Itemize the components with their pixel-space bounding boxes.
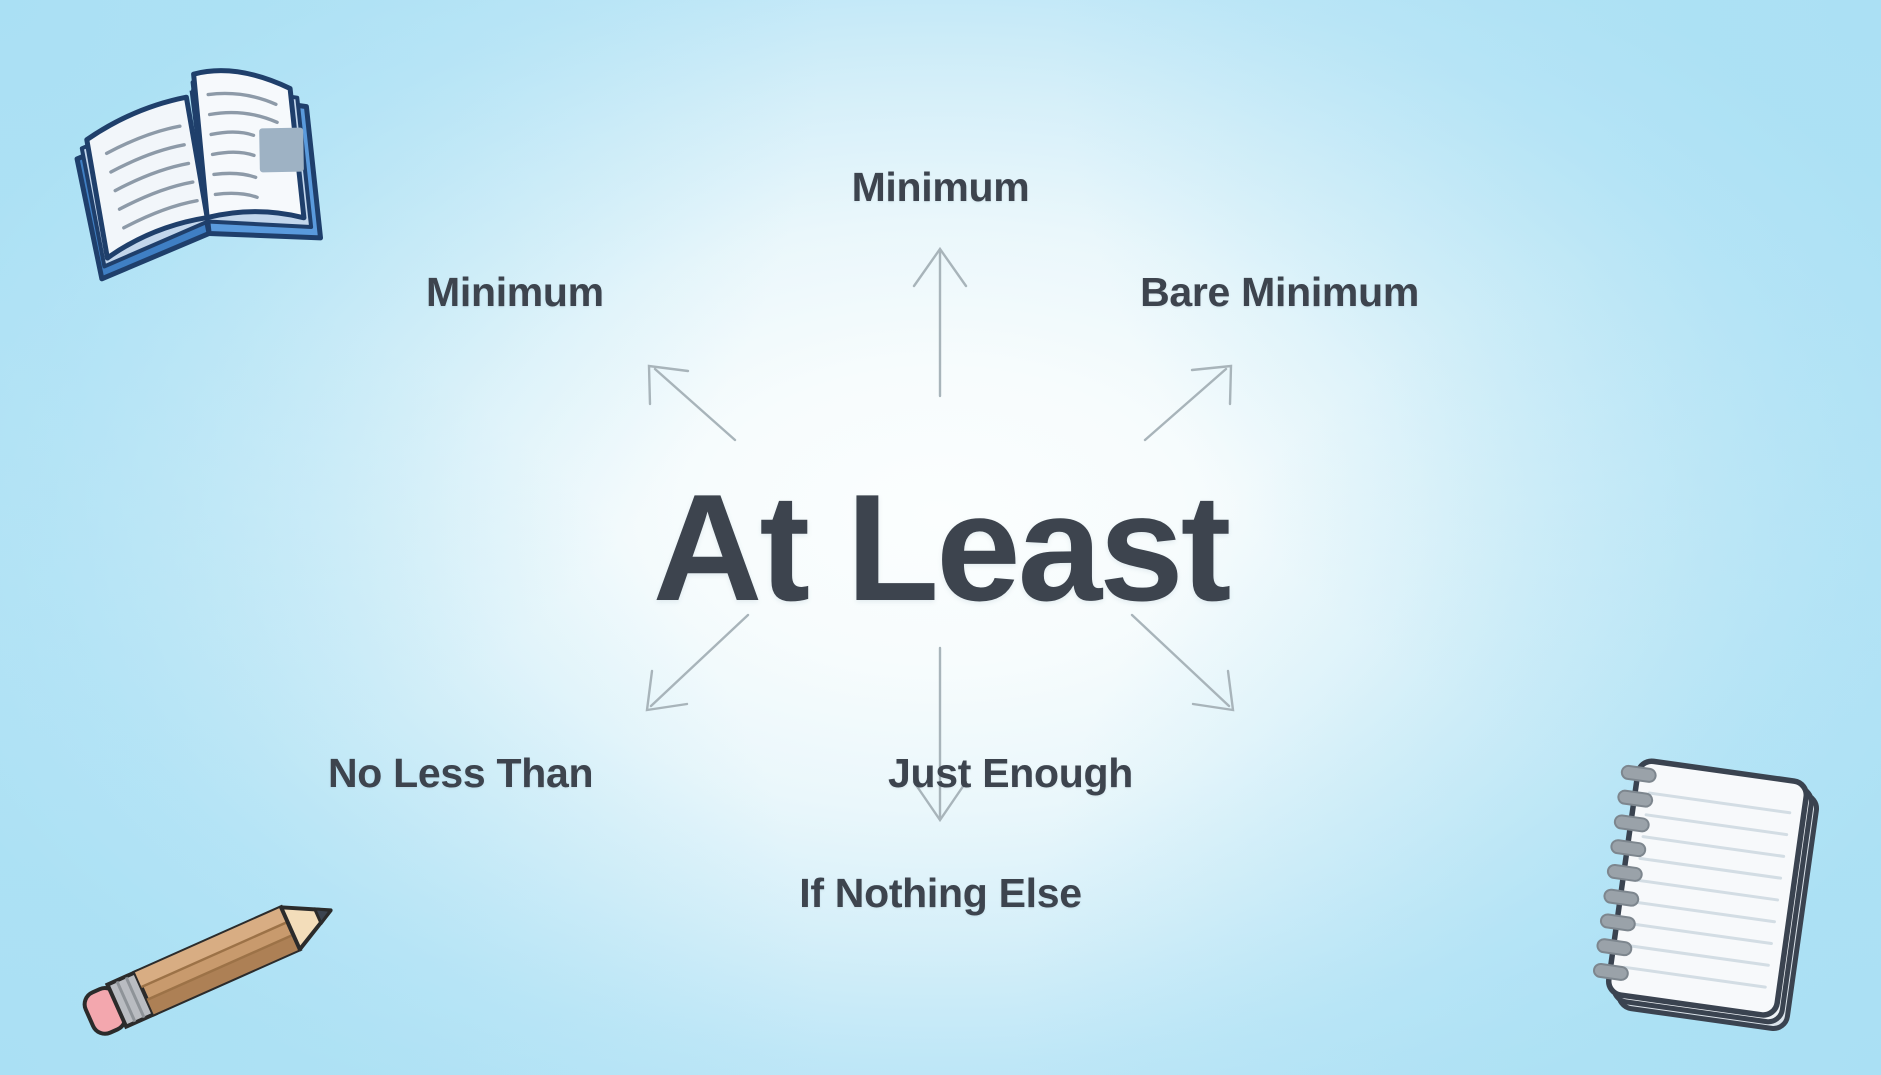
node-label-minimum-left[interactable]: Minimum	[426, 272, 604, 313]
pencil-icon	[70, 868, 360, 1058]
node-label-if-nothing-else[interactable]: If Nothing Else	[799, 873, 1082, 914]
open-book-icon	[60, 34, 340, 284]
node-label-just-enough[interactable]: Just Enough	[888, 753, 1133, 794]
center-title: At Least	[653, 472, 1229, 624]
arrow-up-left	[649, 366, 735, 440]
node-label-no-less-than[interactable]: No Less Than	[328, 753, 593, 794]
node-label-bare-minimum[interactable]: Bare Minimum	[1140, 272, 1419, 313]
infographic-canvas: At Least Minimum Bare Minimum Just Enoug…	[0, 0, 1881, 1075]
arrow-up	[914, 249, 966, 396]
node-label-minimum-top[interactable]: Minimum	[852, 167, 1030, 208]
spiral-notepad-icon	[1570, 752, 1870, 1062]
arrow-up-right	[1145, 366, 1231, 440]
